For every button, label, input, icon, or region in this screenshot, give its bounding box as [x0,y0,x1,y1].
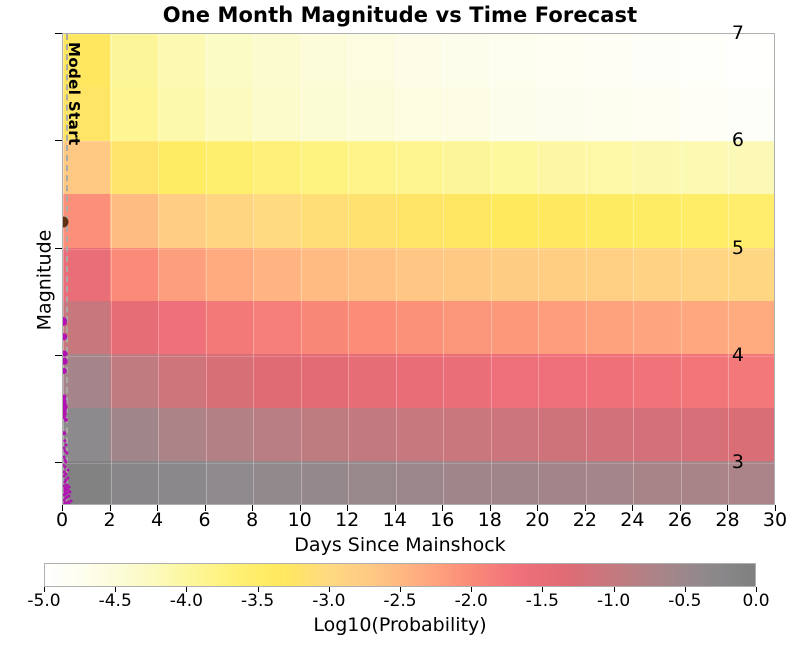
heatmap-cell [158,34,205,87]
colorbar-tick-mark [115,587,116,592]
heatmap-cell [300,194,347,247]
heatmap-cell [347,354,394,407]
heatmap-cell [679,461,726,504]
heatmap-cell [584,34,631,87]
heatmap-cell [632,408,679,461]
aftershock-marker [68,502,71,505]
heatmap-cell [679,141,726,194]
x-tick-label: 8 [246,509,258,531]
heatmap-cell [442,461,489,504]
heatmap-cell [679,408,726,461]
heatmap-cell [490,34,537,87]
heatmap-cell [679,301,726,354]
heatmap-cell [632,354,679,407]
vertical-gridline [111,34,112,504]
heatmap-cell [158,87,205,140]
horizontal-gridline [63,141,774,142]
colorbar[interactable]: -5.0-4.5-4.0-3.5-3.0-2.5-2.0-1.5-1.0-0.5… [44,563,756,587]
heatmap-cell [253,461,300,504]
plot-area[interactable]: Model Start [62,33,775,505]
colorbar-tick-label: -4.5 [99,591,132,611]
heatmap-cell [253,301,300,354]
aftershock-marker [62,358,67,365]
heatmap-cell [205,301,252,354]
heatmap-cell [490,354,537,407]
heatmap-cell [395,461,442,504]
colorbar-tick-label: -4.0 [170,591,203,611]
heatmap-cell [347,301,394,354]
heatmap-cell [253,354,300,407]
page-title: One Month Magnitude vs Time Forecast [0,3,800,27]
x-tick-mark [157,505,158,511]
y-tick-mark [55,33,62,34]
heatmap-cell [253,194,300,247]
heatmap-cell [158,408,205,461]
heatmap-row [63,34,774,87]
y-tick-mark [55,462,62,463]
heatmap-cell [205,461,252,504]
vertical-gridline [491,34,492,504]
heatmap-row [63,248,774,301]
vertical-gridline [301,34,302,504]
aftershock-marker [62,350,67,357]
heatmap-cell [679,248,726,301]
heatmap-cell [395,248,442,301]
x-tick-mark [347,505,348,511]
heatmap-cell [490,87,537,140]
heatmap-cell [158,461,205,504]
colorbar-tick-mark [471,587,472,592]
heatmap-cell [253,408,300,461]
colorbar-label: Log10(Probability) [0,614,800,636]
heatmap-cell [584,301,631,354]
colorbar-tick-mark [186,587,187,592]
heatmap-cell [347,408,394,461]
heatmap-cell [158,141,205,194]
aftershock-marker [65,502,68,505]
heatmap-cell [63,408,110,461]
heatmap-cell [300,408,347,461]
x-tick-mark [490,505,491,511]
heatmap-cell [63,248,110,301]
heatmap-cell [632,141,679,194]
heatmap-cell [679,354,726,407]
y-tick-label: 4 [732,344,744,366]
heatmap-cell [584,408,631,461]
x-tick-label: 28 [715,509,739,531]
y-tick-label: 6 [732,129,744,151]
heatmap-cell [110,194,157,247]
heatmap-cell [584,461,631,504]
heatmap-cell [584,194,631,247]
x-axis-label: Days Since Mainshock [0,534,800,556]
colorbar-tick-mark [756,587,757,592]
x-tick-label: 22 [573,509,597,531]
heatmap-row [63,301,774,354]
y-axis-label: Magnitude [33,230,55,331]
heatmap-cell [158,248,205,301]
heatmap-cell [300,141,347,194]
x-tick-label: 26 [668,509,692,531]
heatmap-cell [253,248,300,301]
heatmap-cell [395,408,442,461]
colorbar-tick-label: -2.0 [455,591,488,611]
colorbar-tick-mark [614,587,615,592]
x-tick-label: 30 [763,509,787,531]
vertical-gridline [633,34,634,504]
y-tick-mark [55,140,62,141]
colorbar-tick-label: -1.0 [597,591,630,611]
colorbar-tick-mark [400,587,401,592]
heatmap-cell [395,194,442,247]
horizontal-gridline [63,34,774,35]
heatmap-cell [347,141,394,194]
heatmap-cell [442,354,489,407]
heatmap-cell [395,141,442,194]
heatmap-cell [490,194,537,247]
heatmap-cell [300,248,347,301]
heatmap-cell [205,408,252,461]
colorbar-gradient [44,563,756,587]
colorbar-tick-mark [258,587,259,592]
heatmap-cell [63,354,110,407]
heatmap-cell [537,461,584,504]
heatmap-cell [537,194,584,247]
aftershock-marker [69,491,72,494]
aftershock-marker [65,452,68,455]
vertical-gridline [206,34,207,504]
y-tick-label: 7 [732,22,744,44]
heatmap-row [63,354,774,407]
y-tick-label: 5 [732,237,744,259]
x-tick-mark [205,505,206,511]
x-tick-mark [395,505,396,511]
heatmap-cell [632,194,679,247]
colorbar-tick-mark [685,587,686,592]
heatmap-cell [490,141,537,194]
heatmap-cell [253,34,300,87]
heatmap-cell [537,87,584,140]
colorbar-tick-mark [44,587,45,592]
heatmap-cell [584,354,631,407]
x-tick-label: 16 [430,509,454,531]
x-tick-mark [62,505,63,511]
heatmap-cell [110,87,157,140]
x-tick-mark [300,505,301,511]
heatmap-cell [537,34,584,87]
aftershock-marker [62,431,66,435]
heatmap-cell [584,87,631,140]
horizontal-gridline [63,249,774,250]
x-tick-label: 2 [103,509,115,531]
vertical-gridline [253,34,254,504]
heatmap-cell [110,354,157,407]
heatmap-cell [347,248,394,301]
x-tick-label: 18 [478,509,502,531]
heatmap-cell [442,87,489,140]
heatmap-grid [63,34,774,504]
heatmap-cell [110,248,157,301]
heatmap-cell [110,461,157,504]
heatmap-cell [63,301,110,354]
heatmap-cell [110,301,157,354]
heatmap-cell [442,301,489,354]
horizontal-gridline [63,356,774,357]
heatmap-cell [537,248,584,301]
heatmap-cell [63,194,110,247]
horizontal-gridline [63,463,774,464]
heatmap-cell [205,248,252,301]
heatmap-cell [347,87,394,140]
vertical-gridline [538,34,539,504]
heatmap-cell [442,408,489,461]
x-tick-label: 4 [151,509,163,531]
heatmap-row [63,141,774,194]
heatmap-cell [205,87,252,140]
heatmap-row [63,408,774,461]
colorbar-tick-label: -0.5 [668,591,701,611]
aftershock-marker [67,477,70,480]
y-tick-label: 3 [732,451,744,473]
heatmap-cell [300,461,347,504]
heatmap-cell [632,248,679,301]
heatmap-cell [632,301,679,354]
heatmap-cell [442,141,489,194]
heatmap-cell [632,34,679,87]
aftershock-marker [66,468,69,471]
x-tick-mark [585,505,586,511]
vertical-gridline [586,34,587,504]
vertical-gridline [443,34,444,504]
x-tick-label: 14 [383,509,407,531]
heatmap-cell [300,354,347,407]
vertical-gridline [396,34,397,504]
aftershock-marker [64,461,67,464]
x-tick-mark [727,505,728,511]
heatmap-row [63,194,774,247]
colorbar-tick-label: -1.5 [526,591,559,611]
heatmap-cell [158,354,205,407]
heatmap-row [63,461,774,504]
x-tick-mark [442,505,443,511]
heatmap-cell [584,248,631,301]
heatmap-cell [537,408,584,461]
heatmap-cell [300,34,347,87]
x-tick-mark [110,505,111,511]
x-tick-label: 24 [620,509,644,531]
heatmap-cell [395,301,442,354]
heatmap-cell [679,34,726,87]
heatmap-cell [395,87,442,140]
heatmap-cell [584,141,631,194]
heatmap-cell [490,248,537,301]
heatmap-cell [632,461,679,504]
model-start-label: Model Start [65,42,83,146]
heatmap-cell [395,354,442,407]
heatmap-cell [253,141,300,194]
heatmap-cell [205,141,252,194]
x-tick-mark [537,505,538,511]
x-tick-mark [680,505,681,511]
colorbar-tick-label: -2.5 [383,591,416,611]
y-tick-mark [55,355,62,356]
x-tick-label: 12 [335,509,359,531]
heatmap-cell [158,301,205,354]
colorbar-tick-label: 0.0 [742,591,769,611]
heatmap-cell [110,408,157,461]
y-tick-mark [55,248,62,249]
x-tick-label: 20 [525,509,549,531]
heatmap-cell [442,248,489,301]
colorbar-tick-mark [542,587,543,592]
x-tick-label: 10 [288,509,312,531]
heatmap-cell [63,461,110,504]
heatmap-cell [253,87,300,140]
heatmap-cell [490,461,537,504]
heatmap-cell [63,141,110,194]
vertical-gridline [158,34,159,504]
heatmap-cell [490,408,537,461]
heatmap-cell [347,194,394,247]
aftershock-marker [62,474,65,477]
vertical-gridline [348,34,349,504]
heatmap-cell [110,34,157,87]
x-tick-mark [775,505,776,511]
heatmap-cell [537,301,584,354]
colorbar-tick-label: -3.0 [312,591,345,611]
figure-canvas: One Month Magnitude vs Time Forecast Mod… [0,0,800,650]
x-tick-label: 6 [199,509,211,531]
heatmap-cell [679,194,726,247]
heatmap-cell [205,34,252,87]
heatmap-cell [537,141,584,194]
heatmap-cell [632,87,679,140]
heatmap-cell [205,354,252,407]
vertical-gridline [681,34,682,504]
colorbar-tick-mark [329,587,330,592]
x-tick-label: 0 [56,509,68,531]
vertical-gridline [728,34,729,504]
heatmap-cell [442,194,489,247]
heatmap-cell [395,34,442,87]
heatmap-cell [110,141,157,194]
heatmap-cell [537,354,584,407]
heatmap-cell [347,34,394,87]
heatmap-cell [347,461,394,504]
heatmap-cell [490,301,537,354]
heatmap-row [63,87,774,140]
colorbar-tick-label: -5.0 [27,591,60,611]
colorbar-tick-label: -3.5 [241,591,274,611]
heatmap-cell [158,194,205,247]
heatmap-cell [679,87,726,140]
heatmap-cell [442,34,489,87]
heatmap-cell [205,194,252,247]
x-tick-mark [252,505,253,511]
heatmap-cell [300,301,347,354]
x-tick-mark [632,505,633,511]
heatmap-cell [300,87,347,140]
